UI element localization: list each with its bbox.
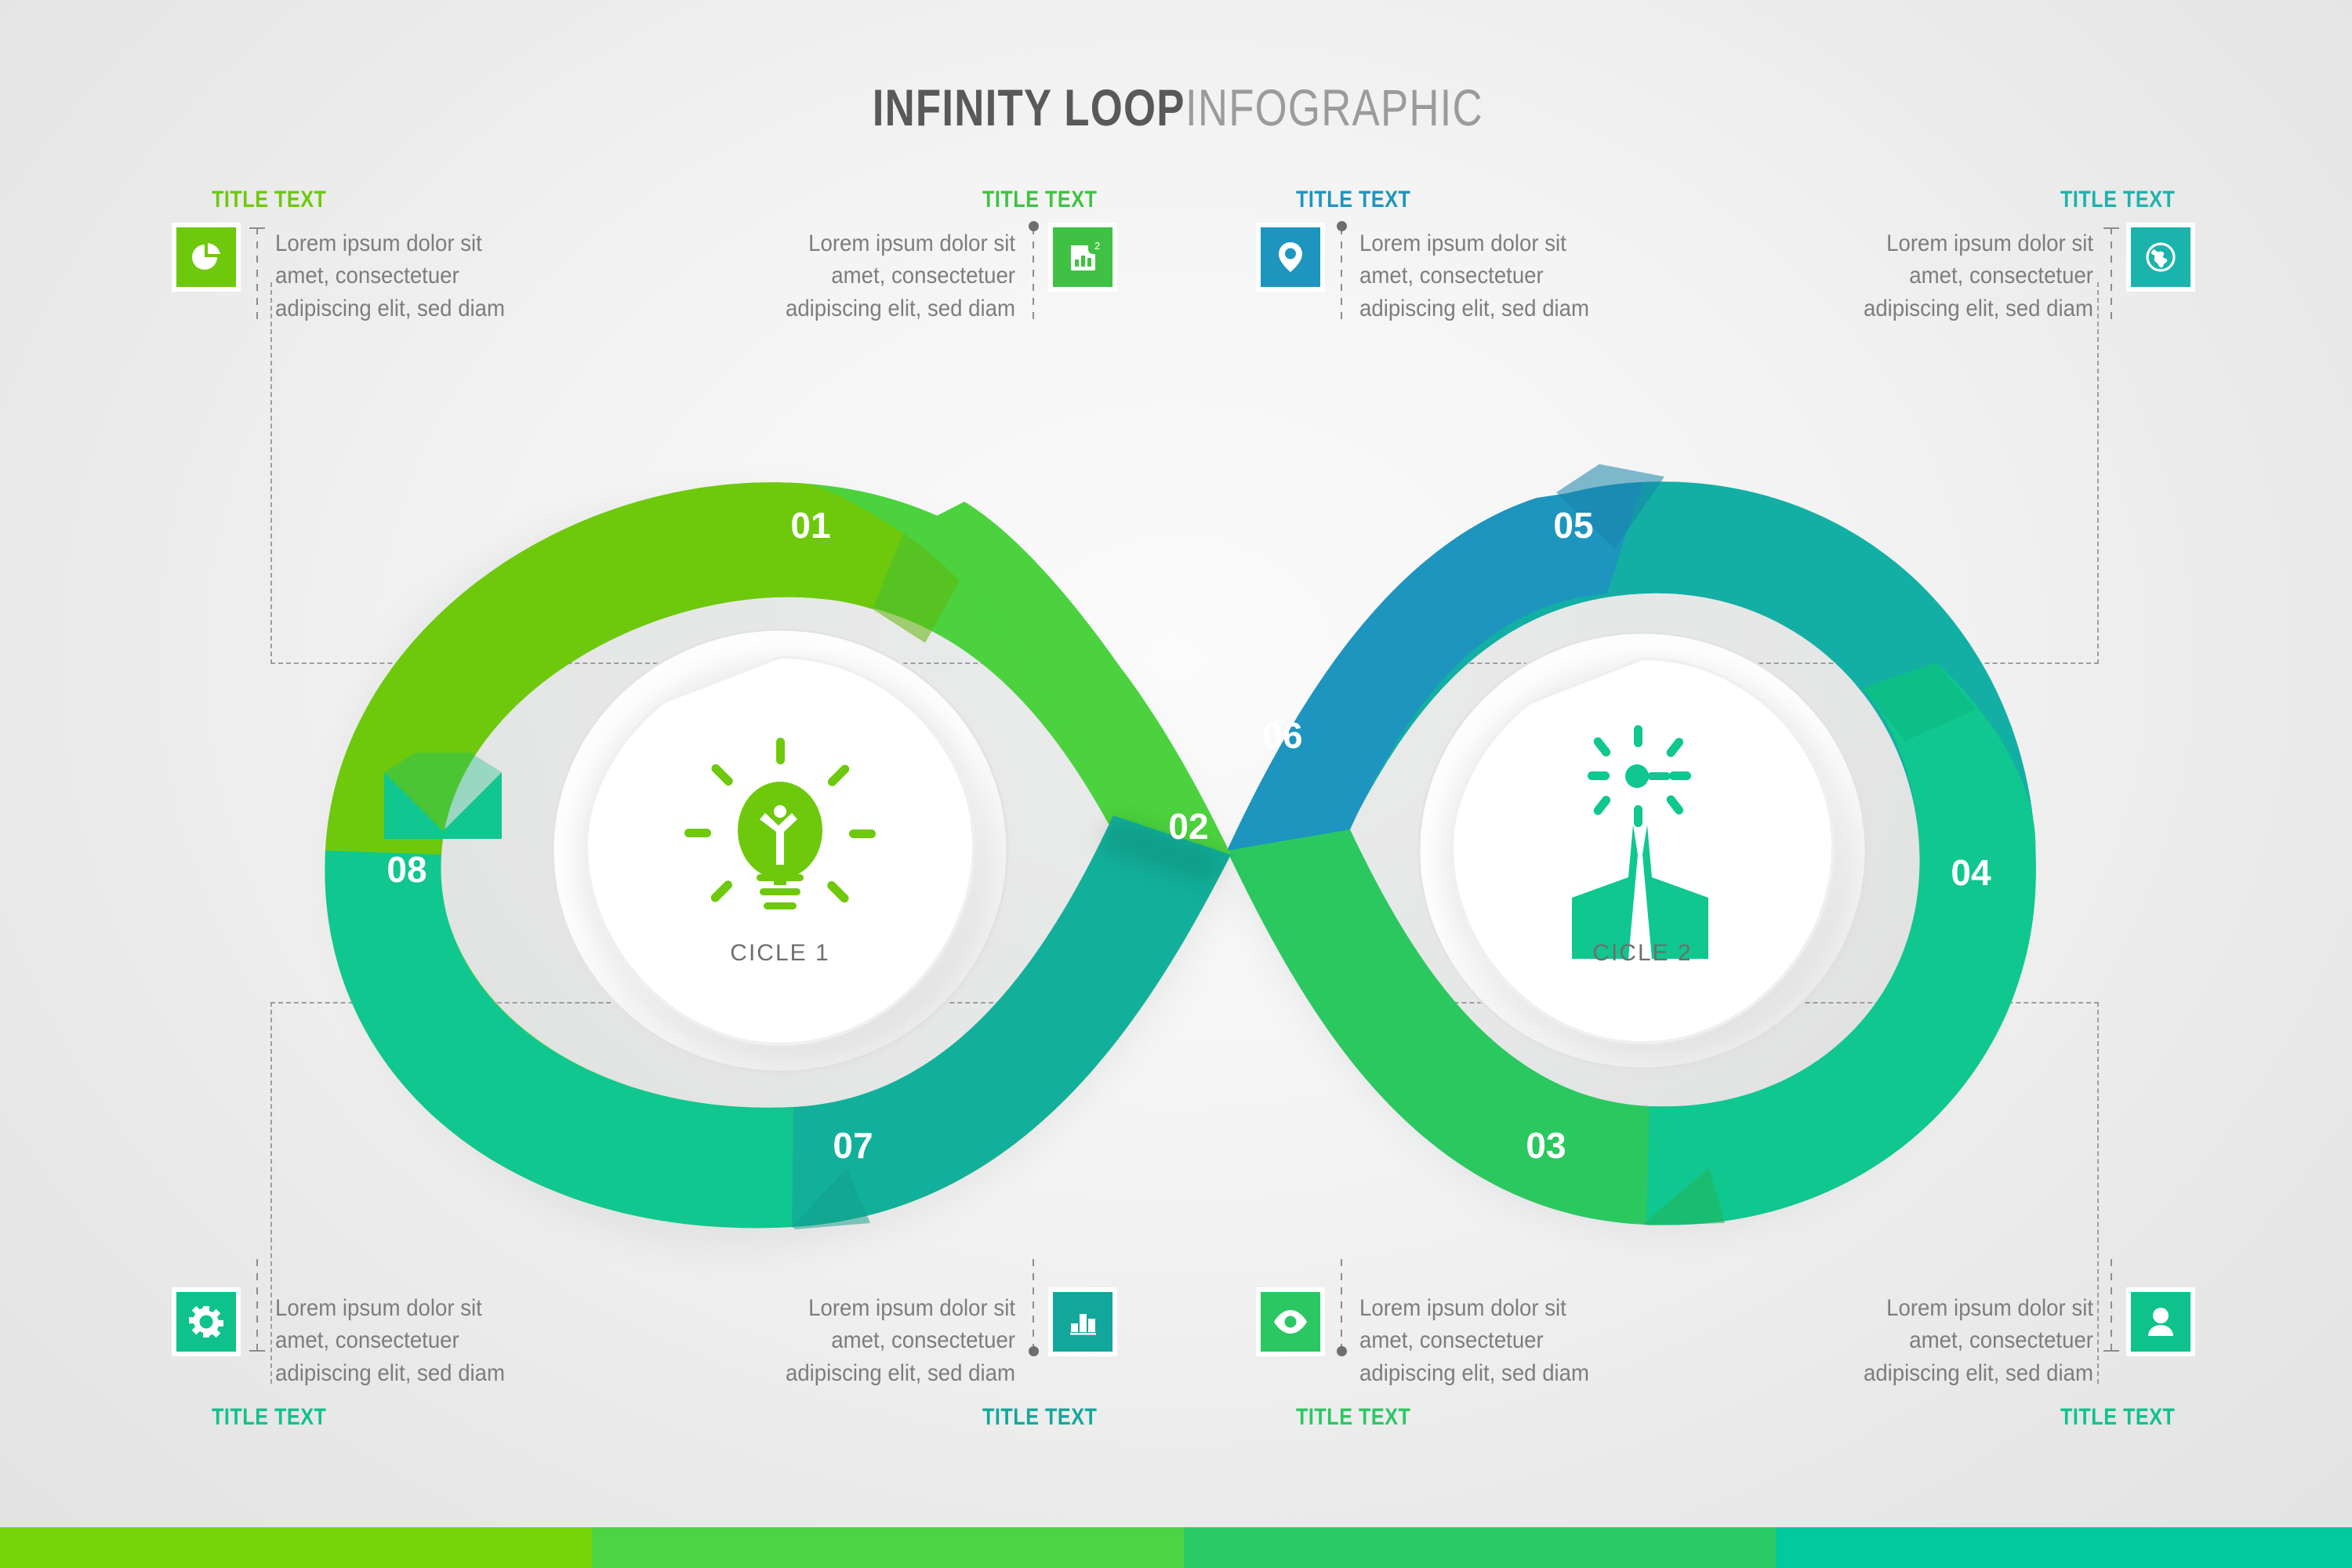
callout-bottom-4-connector (2111, 1259, 2112, 1352)
segment-number-01: 01 (790, 505, 830, 546)
callout-top-3-body: Lorem ipsum dolor sitamet, consectetuera… (1359, 227, 1598, 325)
connector-tick (2103, 1350, 2119, 1352)
cicle-1-medallion (553, 630, 1007, 1072)
callout-bottom-2-connector (1033, 1259, 1034, 1352)
callout-bottom-2-body: Lorem ipsum dolor sitamet, consectetuera… (777, 1292, 1015, 1389)
bottom-bar-block-3 (1184, 1527, 1776, 1568)
callout-top-3-title: TITLE TEXT (1296, 188, 1410, 212)
connector-tick (249, 227, 265, 229)
segment-numbers: 01 02 03 04 05 06 07 08 (387, 505, 1991, 1166)
callout-bottom-1-connector (256, 1259, 258, 1352)
idea-burst-icon (1572, 725, 1708, 959)
callout-top-4[interactable]: TITLE TEXT Lorem ipsum dolor sitamet, co… (1835, 227, 2190, 325)
title-light: INFOGRAPHIC (1185, 82, 1483, 133)
callout-bottom-4[interactable]: Lorem ipsum dolor sitamet, consectetuera… (1835, 1292, 2190, 1389)
callout-top-1[interactable]: TITLE TEXT Lorem ipsum dolor sitamet, co… (176, 227, 534, 325)
callout-top-2-body: Lorem ipsum dolor sitamet, consectetuera… (777, 227, 1015, 325)
bottom-bar-block-4 (1776, 1527, 2352, 1568)
connector-tick (2103, 227, 2119, 229)
callout-bottom-2[interactable]: Lorem ipsum dolor sitamet, consectetuera… (757, 1292, 1112, 1389)
callout-bottom-4-body: Lorem ipsum dolor sitamet, consectetuera… (1855, 1292, 2093, 1389)
cicle-2-label: CICLE 2 (1592, 940, 1692, 966)
callout-top-4-body: Lorem ipsum dolor sitamet, consectetuera… (1855, 227, 2093, 325)
callout-top-2[interactable]: TITLE TEXT Lorem ipsum dolor sitamet, co… (757, 227, 1112, 325)
bar-chart-icon[interactable] (1053, 1292, 1112, 1352)
connector-dot (1029, 221, 1039, 231)
callout-top-4-title: TITLE TEXT (2060, 188, 2175, 212)
callout-bottom-3-body: Lorem ipsum dolor sitamet, consectetuera… (1359, 1292, 1598, 1389)
bracket-top-right (1345, 282, 2099, 664)
bottom-bar-block-1 (0, 1527, 592, 1568)
segment-number-04: 04 (1951, 852, 1991, 893)
callout-bottom-1-body: Lorem ipsum dolor sitamet, consectetuera… (275, 1292, 514, 1389)
lightbulb-icon (684, 738, 876, 909)
person-icon[interactable] (2131, 1292, 2190, 1352)
callout-top-3[interactable]: TITLE TEXT Lorem ipsum dolor sitamet, co… (1261, 227, 1618, 325)
infographic-canvas: INFINITY LOOPINFOGRAPHIC (0, 0, 2352, 1568)
connector-dot (1337, 221, 1347, 231)
callout-bottom-3-title: TITLE TEXT (1296, 1406, 1410, 1429)
segment-number-05: 05 (1553, 505, 1593, 546)
title-bold: INFINITY LOOP (873, 82, 1185, 133)
callout-bottom-3[interactable]: Lorem ipsum dolor sitamet, consectetuera… (1261, 1292, 1618, 1389)
segment-number-02: 02 (1168, 806, 1208, 847)
right-loop-band (1227, 464, 2036, 1225)
callout-top-1-title: TITLE TEXT (212, 188, 326, 212)
left-loop-band (325, 482, 1231, 1229)
page-title: INFINITY LOOPINFOGRAPHIC (0, 82, 2352, 133)
location-pin-icon[interactable] (1261, 227, 1320, 287)
callout-top-3-connector (1341, 227, 1342, 321)
callout-bottom-1[interactable]: Lorem ipsum dolor sitamet, consectetuera… (176, 1292, 534, 1389)
callout-bottom-1-title: TITLE TEXT (212, 1406, 326, 1429)
cicle-2-medallion (1419, 633, 1866, 1069)
segment-number-03: 03 (1526, 1125, 1566, 1166)
callout-top-1-body: Lorem ipsum dolor sitamet, consectetuera… (275, 227, 514, 325)
segment-number-08: 08 (387, 849, 426, 890)
segment-02-overpass (903, 502, 1231, 855)
connector-dot (1337, 1346, 1347, 1356)
connector-tick (249, 1350, 265, 1352)
callout-top-2-title: TITLE TEXT (982, 188, 1097, 212)
pie-chart-icon[interactable] (176, 227, 236, 287)
segment-number-06: 06 (1262, 715, 1302, 756)
callout-top-1-connector (256, 227, 258, 321)
connector-dot (1029, 1346, 1039, 1356)
callout-bottom-2-title: TITLE TEXT (982, 1406, 1097, 1429)
bottom-bar-block-2 (592, 1527, 1184, 1568)
segment-number-07: 07 (833, 1125, 873, 1166)
callout-top-2-connector (1033, 227, 1034, 321)
globe-icon[interactable] (2131, 227, 2190, 287)
bar-chart-badge-icon[interactable]: 2 (1053, 227, 1112, 287)
gear-icon[interactable] (176, 1292, 236, 1352)
callout-top-4-connector (2111, 227, 2112, 321)
callout-bottom-3-connector (1341, 1259, 1342, 1352)
svg-text:2: 2 (1094, 240, 1100, 252)
bracket-top-left (270, 282, 1009, 664)
callout-bottom-4-title: TITLE TEXT (2060, 1406, 2175, 1429)
cicle-1-label: CICLE 1 (730, 940, 829, 966)
bottom-color-bar (0, 1527, 2352, 1568)
eye-icon[interactable] (1261, 1292, 1320, 1352)
